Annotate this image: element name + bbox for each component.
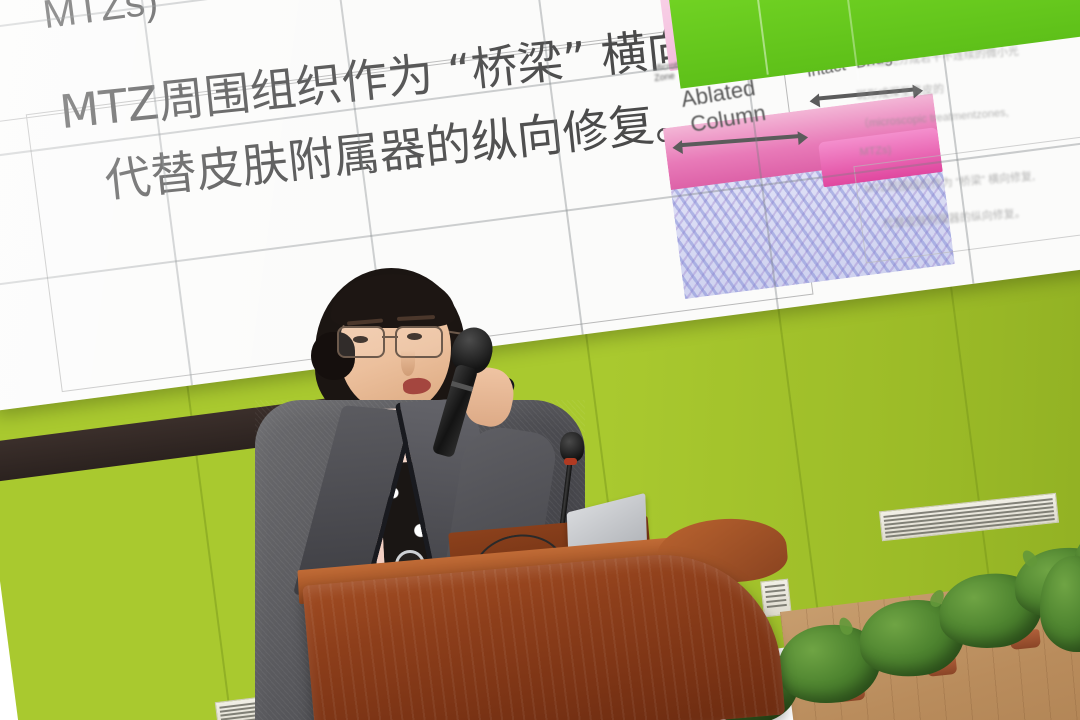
- label-microthermal-line2: Zone: [654, 71, 676, 84]
- secondary-line-3: （microscopic treatmentzones,: [857, 104, 1009, 132]
- presentation-photograph: 达全真皮的 连续的微小光斑, （microscopic treatmentzon…: [0, 0, 1080, 720]
- secondary-line-4: MTZs): [859, 144, 892, 158]
- nose: [401, 350, 415, 376]
- secondary-line-2: 斑形成深至真皮的: [856, 80, 945, 103]
- eyeglasses: [337, 326, 451, 356]
- gooseneck-mic-indicator: [564, 458, 577, 465]
